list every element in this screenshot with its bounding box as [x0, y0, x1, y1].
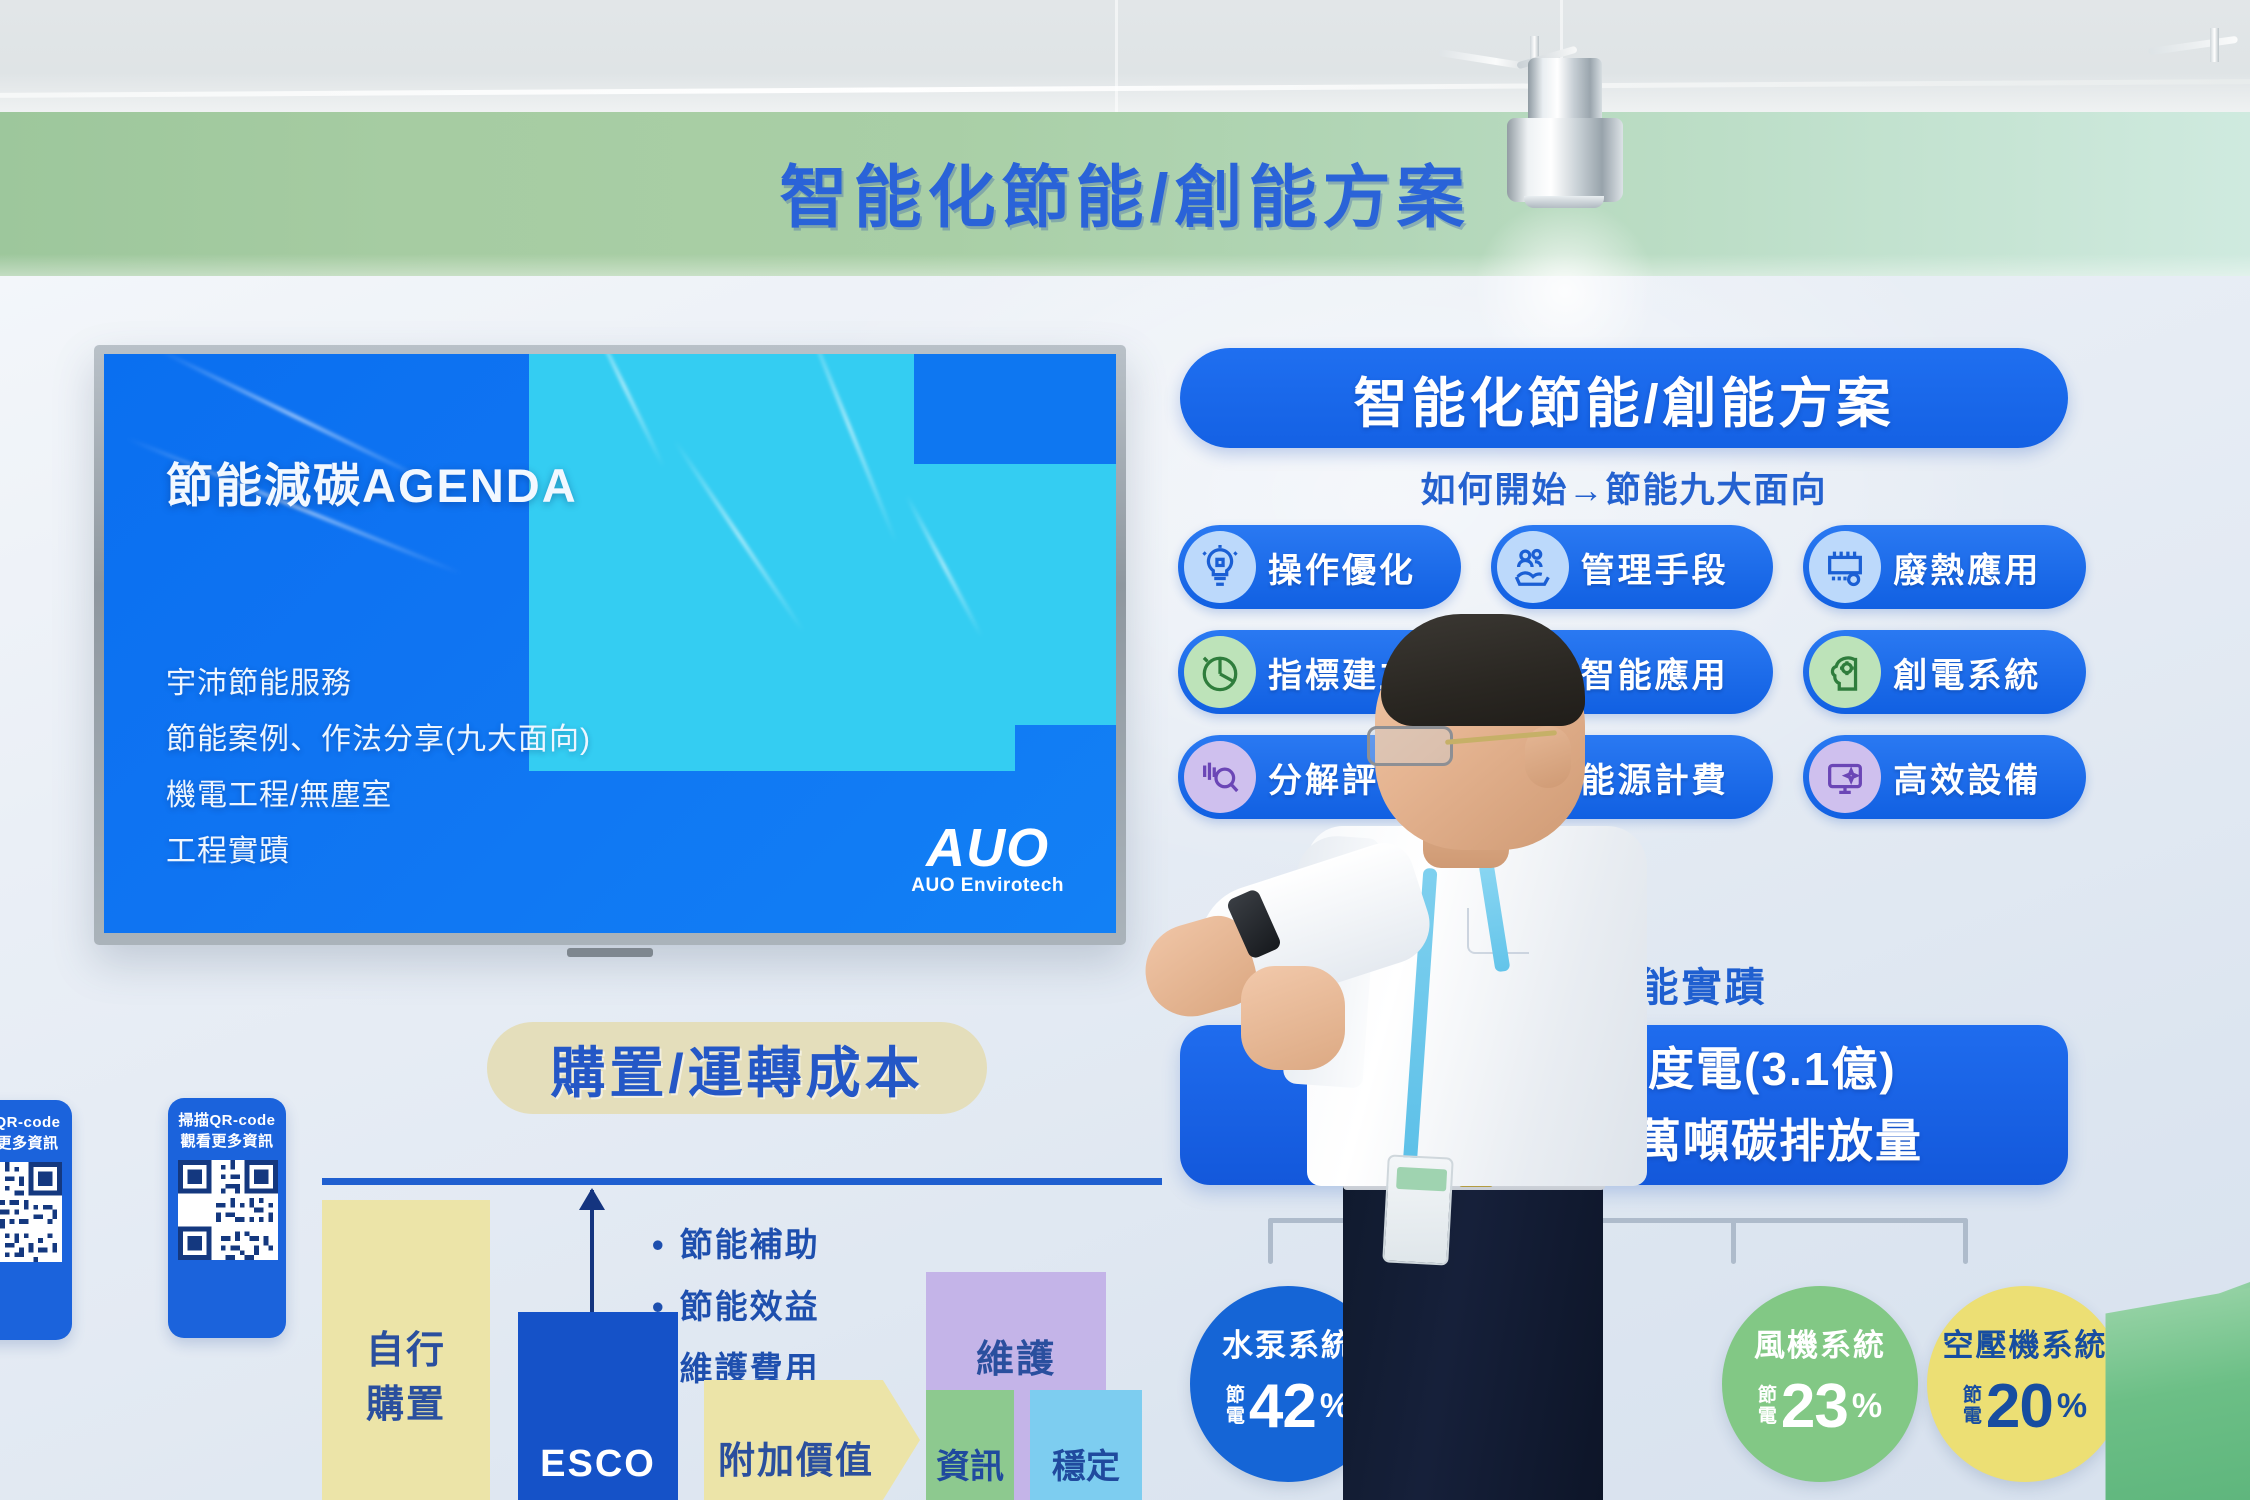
bar-label: ESCO — [518, 1443, 678, 1486]
banner-title: 智能化節能/創能方案 — [0, 142, 2250, 241]
cost-bullet: 節能補助 — [652, 1214, 820, 1276]
qr-caption-line2: 觀看更多資訊 — [180, 1133, 273, 1150]
stat-circle-air-compressor: 空壓機系統 節電 20 % — [1927, 1286, 2123, 1482]
qr-card-left[interactable]: 掃描QR-code 觀看更多資訊 — [0, 1100, 72, 1340]
tv-blue-notch — [914, 354, 1116, 464]
spotlight-right-arm — [2148, 28, 2228, 68]
tv-stand-foot — [567, 948, 653, 957]
pill-operation-optimization[interactable]: 操作優化 — [1178, 525, 1461, 609]
pill-management-method[interactable]: 管理手段 — [1491, 525, 1774, 609]
qr-caption: 掃描QR-code 觀看更多資訊 — [0, 1112, 62, 1154]
auo-logo: AUO AUO Envirotech — [911, 817, 1064, 897]
presenter — [1255, 640, 1695, 1500]
spotlight-lip — [1524, 196, 1604, 208]
brain-gear-icon — [1809, 636, 1881, 708]
bar-stability: 穩定 — [1030, 1390, 1142, 1500]
circle-tag: 節電 — [1758, 1385, 1777, 1427]
tv-bullet: 機電工程/無塵室 — [166, 768, 591, 824]
presenter-trousers — [1343, 1174, 1603, 1500]
pill-waste-heat-application[interactable]: 廢熱應用 — [1803, 525, 2086, 609]
auo-logo-mark: AUO — [911, 817, 1064, 879]
ceiling-panel-line — [1115, 0, 1118, 118]
qr-card-right[interactable]: 掃描QR-code 觀看更多資訊 — [168, 1098, 286, 1338]
pill-label: 管理手段 — [1581, 543, 1729, 592]
circle-tag: 節電 — [1963, 1385, 1982, 1427]
green-pedestal — [2082, 1288, 2250, 1500]
tv-display[interactable]: 節能減碳AGENDA 宇沛節能服務 節能案例、作法分享(九大面向) 機電工程/無… — [94, 345, 1126, 945]
bar-self-purchase: 自行 購置 — [322, 1200, 490, 1500]
cost-chart: 維護 自行 購置 節能補助 節能效益 維護費用 ESCO 附加價值 資訊 穩定 — [322, 1178, 1162, 1500]
cost-title-text: 購置/運轉成本 — [550, 1028, 923, 1108]
tv-bullet: 宇沛節能服務 — [166, 656, 591, 712]
poster-title-pill: 智能化節能/創能方案 — [1180, 348, 2068, 448]
qr-code-icon — [0, 1162, 62, 1262]
pill-high-efficiency-equipment[interactable]: 高效設備 — [1803, 735, 2086, 819]
pill-label: 廢熱應用 — [1893, 543, 2041, 592]
spotlight-icon — [1507, 118, 1623, 202]
magnifier-data-icon — [1184, 741, 1256, 813]
qr-caption-line1: 掃描QR-code — [178, 1112, 275, 1129]
circle-name: 風機系統 — [1754, 1327, 1886, 1365]
pill-power-generation-system[interactable]: 創電系統 — [1803, 630, 2086, 714]
poster-subtitle: 如何開始→節能九大面向 — [1180, 462, 2068, 513]
auo-logo-subtitle: AUO Envirotech — [911, 875, 1064, 897]
pill-row-1: 操作優化 管理手段 — [1178, 525, 2086, 609]
circle-name: 空壓機系統 — [1943, 1327, 2108, 1365]
stat-circle-fan: 風機系統 節電 23 % — [1722, 1286, 1918, 1482]
qr-code-icon — [178, 1160, 278, 1260]
qr-caption-line1: 掃描QR-code — [0, 1114, 61, 1131]
circle-percent: % — [1852, 1387, 1882, 1426]
monitor-spark-icon — [1809, 741, 1881, 813]
bar-label: 維護 — [926, 1328, 1106, 1383]
bar-label-line2: 購置 — [366, 1384, 446, 1426]
bar-label: 穩定 — [1030, 1439, 1142, 1488]
tv-slide-bullets: 宇沛節能服務 節能案例、作法分享(九大面向) 機電工程/無塵室 工程實蹟 — [166, 656, 591, 880]
tv-slide-title: 節能減碳AGENDA — [166, 447, 578, 516]
tv-bullet: 工程實蹟 — [166, 824, 591, 880]
bar-esco: ESCO — [518, 1312, 678, 1500]
cost-title-pill: 購置/運轉成本 — [487, 1022, 987, 1114]
added-value-flag: 附加價值 — [704, 1380, 920, 1500]
circle-value: 23 — [1781, 1371, 1848, 1442]
poster-title-text: 智能化節能/創能方案 — [1353, 359, 1894, 438]
pill-label: 操作優化 — [1268, 543, 1416, 592]
pill-label: 高效設備 — [1893, 753, 2041, 802]
circle-percent: % — [2057, 1387, 2087, 1426]
presenter-holding-hand — [1241, 966, 1345, 1070]
qr-caption-line2: 觀看更多資訊 — [0, 1135, 59, 1152]
qr-caption: 掃描QR-code 觀看更多資訊 — [178, 1110, 276, 1152]
cost-chart-topline — [322, 1178, 1162, 1185]
people-hand-icon — [1497, 531, 1569, 603]
circle-tag: 節電 — [1226, 1385, 1245, 1427]
bar-information: 資訊 — [926, 1390, 1014, 1500]
presenter-id-badge — [1382, 1154, 1454, 1265]
circle-value: 20 — [1986, 1371, 2053, 1442]
tv-screen: 節能減碳AGENDA 宇沛節能服務 節能案例、作法分享(九大面向) 機電工程/無… — [104, 354, 1116, 933]
glasses-icon — [1367, 726, 1551, 766]
factory-gear-icon — [1809, 531, 1881, 603]
pie-chart-icon — [1184, 636, 1256, 708]
bar-label: 自行 購置 — [322, 1324, 490, 1432]
bar-label-line1: 自行 — [366, 1330, 446, 1372]
scene-root: 智能化節能/創能方案 節能減碳AGENDA 宇沛節能服務 節能案例、作法分享(九… — [0, 0, 2250, 1500]
tv-bullet: 節能案例、作法分享(九大面向) — [166, 712, 591, 768]
pill-label: 創電系統 — [1893, 648, 2041, 697]
bar-label: 資訊 — [926, 1439, 1014, 1488]
lightbulb-icon — [1184, 531, 1256, 603]
flag-label: 附加價值 — [704, 1430, 874, 1500]
ceiling — [0, 0, 2250, 118]
